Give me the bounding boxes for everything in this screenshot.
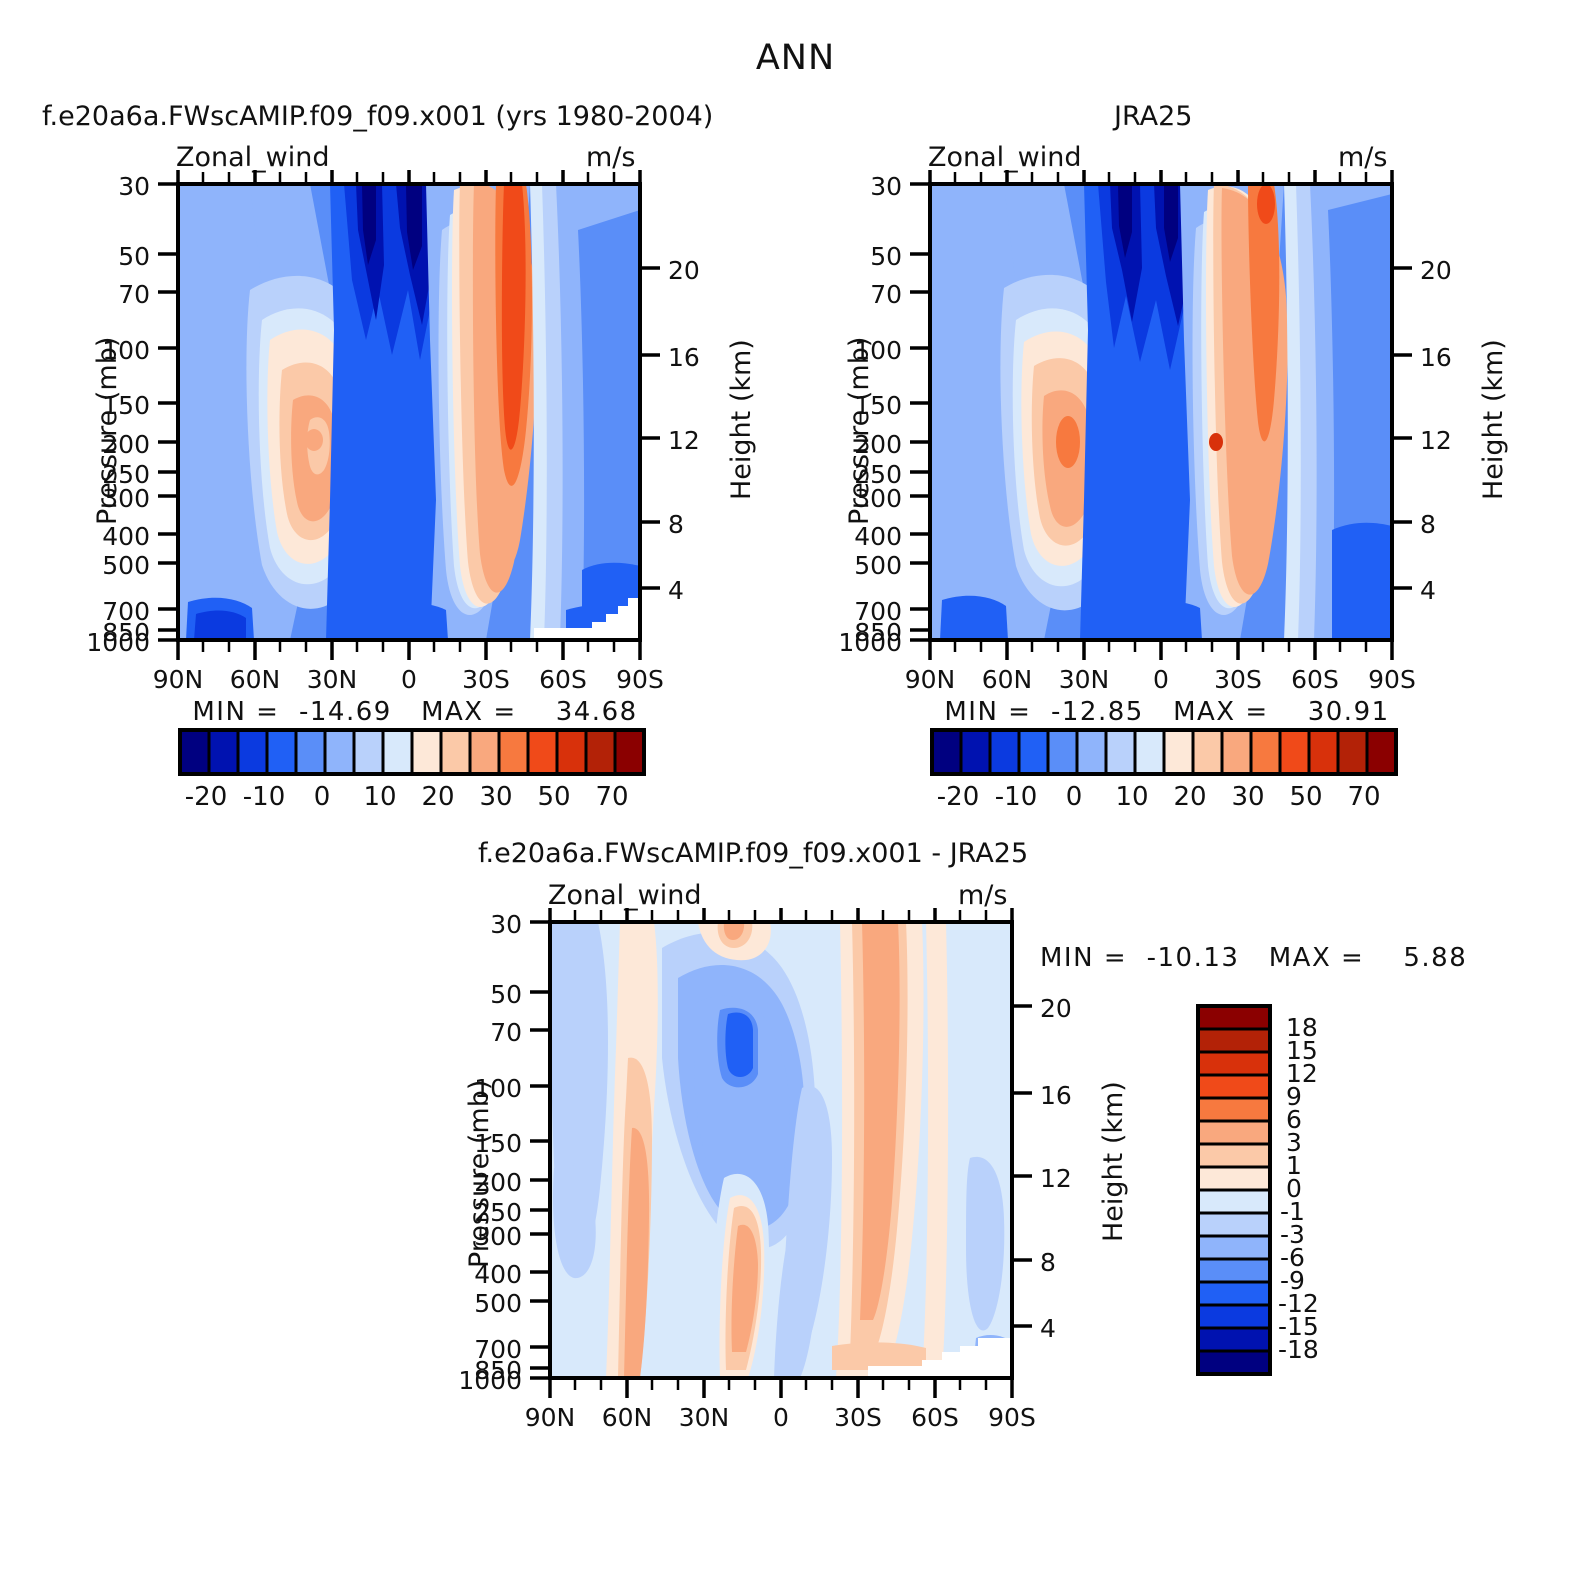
colorbar-swatch xyxy=(1135,730,1164,774)
colorbar-swatch xyxy=(180,730,209,774)
colorbar-swatch xyxy=(1198,1006,1270,1029)
p-tick-diff-7: 300 xyxy=(438,1222,522,1251)
p-tick-obs-12: 1000 xyxy=(804,628,902,657)
colorbar-swatch xyxy=(1198,1190,1270,1213)
height-axis-label-obs: Height (km) xyxy=(1478,339,1509,500)
p-tick-model-9: 500 xyxy=(66,551,150,580)
colorbar-swatch xyxy=(1367,730,1396,774)
colorbar-swatch xyxy=(1077,730,1106,774)
colorbar-swatch xyxy=(383,730,412,774)
season-title: ANN xyxy=(0,38,1591,78)
p-tick-diff-1: 50 xyxy=(450,980,522,1009)
h-tick-diff-1: 16 xyxy=(1040,1081,1072,1110)
p-tick-obs-4: 150 xyxy=(818,391,902,420)
h-tick-obs-4: 4 xyxy=(1420,576,1436,605)
height-axis-label-diff: Height (km) xyxy=(1098,1081,1129,1242)
p-tick-diff-4: 150 xyxy=(438,1129,522,1158)
colorbar-swatch xyxy=(1198,1305,1270,1328)
colorbar-swatch xyxy=(961,730,990,774)
p-tick-diff-9: 500 xyxy=(438,1289,522,1318)
colorbar-swatch xyxy=(354,730,383,774)
colorbar-swatch xyxy=(1198,1167,1270,1190)
lat-tick-obs-0: 90N xyxy=(890,665,970,694)
colorbar-swatch xyxy=(1198,1098,1270,1121)
colorbar-swatch xyxy=(615,730,644,774)
lat-tick-diff-4: 30S xyxy=(818,1403,898,1432)
lat-tick-obs-1: 60N xyxy=(967,665,1047,694)
colorbar-swatch xyxy=(1164,730,1193,774)
colorbar-swatch xyxy=(238,730,267,774)
lat-tick-obs-2: 30N xyxy=(1044,665,1124,694)
p-tick-diff-3: 100 xyxy=(438,1074,522,1103)
h-tick-model-3: 8 xyxy=(668,510,684,539)
lat-tick-model-3: 0 xyxy=(369,665,449,694)
lat-tick-diff-2: 30N xyxy=(664,1403,744,1432)
p-tick-obs-7: 300 xyxy=(818,484,902,513)
colorbar-swatch xyxy=(412,730,441,774)
plot-model xyxy=(130,170,700,670)
colorbar-swatch xyxy=(557,730,586,774)
p-tick-obs-1: 50 xyxy=(830,242,902,271)
cb-label-model-7: 70 xyxy=(572,782,652,812)
h-tick-obs-1: 16 xyxy=(1420,343,1452,372)
lat-tick-diff-6: 90S xyxy=(972,1403,1052,1432)
p-tick-diff-8: 400 xyxy=(438,1260,522,1289)
p-tick-diff-5: 200 xyxy=(438,1168,522,1197)
units-label-diff: m/s xyxy=(958,880,1007,911)
cbv-label-14: -18 xyxy=(1278,1335,1319,1364)
lat-tick-obs-5: 60S xyxy=(1275,665,1355,694)
units-label-obs: m/s xyxy=(1338,142,1387,173)
h-tick-diff-0: 20 xyxy=(1040,994,1072,1023)
colorbar-swatch xyxy=(1198,1052,1270,1075)
stats-obs: MIN = -12.85 MAX = 30.91 xyxy=(882,697,1452,727)
p-tick-model-0: 30 xyxy=(78,172,150,201)
p-tick-model-7: 300 xyxy=(66,484,150,513)
p-tick-model-1: 50 xyxy=(78,242,150,271)
colorbar-swatch xyxy=(1198,1075,1270,1098)
colorbar-swatch xyxy=(499,730,528,774)
lat-tick-model-2: 30N xyxy=(292,665,372,694)
colorbar-swatch xyxy=(990,730,1019,774)
plot-diff xyxy=(502,908,1072,1408)
lat-tick-model-4: 30S xyxy=(446,665,526,694)
colorbar-swatch xyxy=(1198,1259,1270,1282)
lat-tick-obs-6: 90S xyxy=(1352,665,1432,694)
colorbar-swatch xyxy=(296,730,325,774)
colorbar-swatch xyxy=(1309,730,1338,774)
h-tick-diff-4: 4 xyxy=(1040,1314,1056,1343)
colorbar-swatch xyxy=(1198,1029,1270,1052)
plot-obs xyxy=(882,170,1452,670)
colorbar-swatch xyxy=(1198,1328,1270,1351)
p-tick-obs-3: 100 xyxy=(818,336,902,365)
colorbar-swatch xyxy=(209,730,238,774)
lat-tick-diff-0: 90N xyxy=(510,1403,590,1432)
h-tick-obs-0: 20 xyxy=(1420,256,1452,285)
colorbar-swatch xyxy=(267,730,296,774)
colorbar-swatch xyxy=(932,730,961,774)
h-tick-model-2: 12 xyxy=(668,426,700,455)
p-tick-diff-12: 1000 xyxy=(424,1366,522,1395)
height-axis-label-model: Height (km) xyxy=(726,339,757,500)
colorbar-swatch xyxy=(1198,1144,1270,1167)
p-tick-obs-0: 30 xyxy=(830,172,902,201)
p-tick-model-4: 150 xyxy=(66,391,150,420)
p-tick-obs-5: 200 xyxy=(818,430,902,459)
p-tick-model-8: 400 xyxy=(66,522,150,551)
cb-label-obs-7: 70 xyxy=(1324,782,1404,812)
p-tick-model-12: 1000 xyxy=(52,628,150,657)
colorbar-swatch xyxy=(1198,1213,1270,1236)
h-tick-diff-3: 8 xyxy=(1040,1248,1056,1277)
variable-caption-obs: Zonal_wind xyxy=(928,142,1082,173)
p-tick-model-3: 100 xyxy=(66,336,150,365)
lat-tick-obs-3: 0 xyxy=(1121,665,1201,694)
lat-tick-obs-4: 30S xyxy=(1198,665,1278,694)
h-tick-model-4: 4 xyxy=(668,576,684,605)
colorbar-swatch xyxy=(1193,730,1222,774)
colorbar-swatch xyxy=(586,730,615,774)
p-tick-obs-2: 70 xyxy=(830,280,902,309)
h-tick-obs-3: 8 xyxy=(1420,510,1436,539)
colorbar-diff xyxy=(1196,1004,1272,1376)
lat-tick-diff-5: 60S xyxy=(895,1403,975,1432)
lat-tick-model-5: 60S xyxy=(523,665,603,694)
colorbar-swatch xyxy=(1280,730,1309,774)
colorbar-swatch xyxy=(1048,730,1077,774)
lat-tick-diff-3: 0 xyxy=(741,1403,821,1432)
panel-title-diff: f.e20a6a.FWscAMIP.f09_f09.x001 - JRA25 xyxy=(478,838,1028,869)
units-label-model: m/s xyxy=(586,142,635,173)
stats-model: MIN = -14.69 MAX = 34.68 xyxy=(130,697,700,727)
p-tick-diff-2: 70 xyxy=(450,1018,522,1047)
lat-tick-model-0: 90N xyxy=(138,665,218,694)
colorbar-swatch xyxy=(1198,1121,1270,1144)
lat-tick-diff-1: 60N xyxy=(587,1403,667,1432)
colorbar-swatch xyxy=(1338,730,1367,774)
panel-title-model: f.e20a6a.FWscAMIP.f09_f09.x001 (yrs 1980… xyxy=(42,101,713,132)
colorbar-swatch xyxy=(528,730,557,774)
h-tick-model-1: 16 xyxy=(668,343,700,372)
colorbar-obs xyxy=(930,728,1398,776)
colorbar-swatch xyxy=(1198,1282,1270,1305)
p-tick-obs-8: 400 xyxy=(818,522,902,551)
p-tick-model-2: 70 xyxy=(78,280,150,309)
variable-caption-model: Zonal_wind xyxy=(176,142,330,173)
colorbar-model xyxy=(178,728,646,776)
p-tick-model-5: 200 xyxy=(66,430,150,459)
h-tick-obs-2: 12 xyxy=(1420,426,1452,455)
colorbar-swatch xyxy=(1222,730,1251,774)
p-tick-obs-9: 500 xyxy=(818,551,902,580)
colorbar-swatch xyxy=(470,730,499,774)
lat-tick-model-6: 90S xyxy=(600,665,680,694)
colorbar-swatch xyxy=(1251,730,1280,774)
stats-diff: MIN = -10.13 MAX = 5.88 xyxy=(1040,943,1460,973)
colorbar-swatch xyxy=(1198,1351,1270,1374)
colorbar-swatch xyxy=(1019,730,1048,774)
colorbar-swatch xyxy=(441,730,470,774)
p-tick-diff-0: 30 xyxy=(450,910,522,939)
panel-title-obs: JRA25 xyxy=(1114,101,1192,132)
colorbar-swatch xyxy=(1198,1236,1270,1259)
h-tick-diff-2: 12 xyxy=(1040,1164,1072,1193)
h-tick-model-0: 20 xyxy=(668,256,700,285)
colorbar-swatch xyxy=(1106,730,1135,774)
colorbar-swatch xyxy=(325,730,354,774)
variable-caption-diff: Zonal_wind xyxy=(548,880,702,911)
lat-tick-model-1: 60N xyxy=(215,665,295,694)
